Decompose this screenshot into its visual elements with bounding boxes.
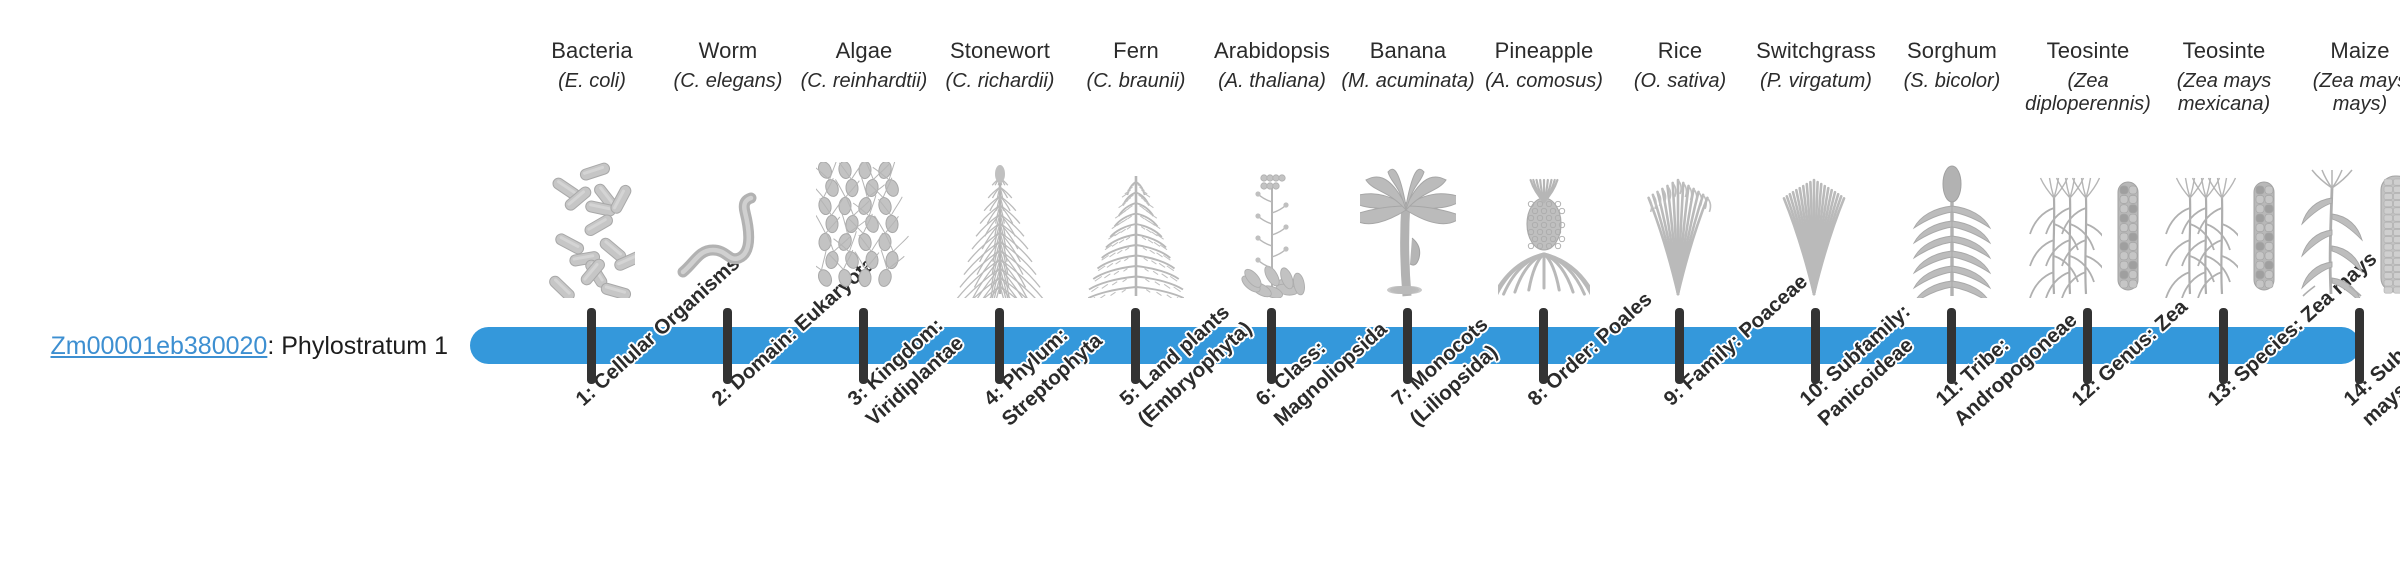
- species-header: Maize(Zea mays mays): [2283, 38, 2400, 116]
- species-common-name: Worm: [651, 38, 805, 64]
- species-common-name: Rice: [1603, 38, 1757, 64]
- species-common-name: Bacteria: [515, 38, 669, 64]
- species-column: Bacteria(E. coli)1: Cellular Organisms: [524, 0, 660, 580]
- stonewort-illustration: [932, 168, 1068, 298]
- species-common-name: Maize: [2283, 38, 2400, 64]
- banana-plant-illustration: [1340, 168, 1476, 298]
- species-common-name: Algae: [787, 38, 941, 64]
- species-header: Teosinte(Zea diploperennis): [2011, 38, 2165, 116]
- species-common-name: Arabidopsis: [1195, 38, 1349, 64]
- species-scientific-name: (C. braunii): [1059, 70, 1213, 93]
- species-scientific-name: (E. coli): [515, 70, 669, 93]
- species-column: Teosinte(Zea diploperennis)12: Genus: Ze…: [2020, 0, 2156, 580]
- species-header: Arabidopsis(A. thaliana): [1195, 38, 1349, 93]
- species-scientific-name: (C. elegans): [651, 70, 805, 93]
- species-column: Algae(C. reinhardtii)3: Kingdom: Viridip…: [796, 0, 932, 580]
- species-header: Fern(C. braunii): [1059, 38, 1213, 93]
- label-separator: :: [267, 332, 281, 360]
- species-scientific-name: (S. bicolor): [1875, 70, 2029, 93]
- species-common-name: Stonewort: [923, 38, 1077, 64]
- species-common-name: Pineapple: [1467, 38, 1621, 64]
- gene-phylostratum-text: : Phylostratum 1: [267, 332, 448, 360]
- species-header: Pineapple(A. comosus): [1467, 38, 1621, 93]
- species-column: Pineapple(A. comosus)8: Order: Poales: [1476, 0, 1612, 580]
- species-column: Sorghum(S. bicolor)11: Tribe: Andropogon…: [1884, 0, 2020, 580]
- species-common-name: Fern: [1059, 38, 1213, 64]
- species-header: Algae(C. reinhardtii): [787, 38, 941, 93]
- timeline-tick: [723, 308, 732, 384]
- species-common-name: Switchgrass: [1739, 38, 1893, 64]
- species-column: Worm(C. elegans)2: Domain: Eukaryota: [660, 0, 796, 580]
- green-algae-illustration: [796, 168, 932, 298]
- gene-id-link[interactable]: Zm00001eb380020: [50, 332, 267, 360]
- species-common-name: Sorghum: [1875, 38, 2029, 64]
- species-scientific-name: (M. acuminata): [1331, 70, 1485, 93]
- species-scientific-name: (C. richardii): [923, 70, 1077, 93]
- species-column: Teosinte(Zea mays mexicana)13: Species: …: [2156, 0, 2292, 580]
- nematode-worm-illustration: [660, 168, 796, 298]
- species-scientific-name: (C. reinhardtii): [787, 70, 941, 93]
- arabidopsis-illustration: [1204, 168, 1340, 298]
- pineapple-illustration: [1476, 168, 1612, 298]
- phylostratum-value: Phylostratum 1: [281, 332, 448, 360]
- timeline-tick: [1403, 308, 1412, 384]
- species-scientific-name: (A. comosus): [1467, 70, 1621, 93]
- species-column: Arabidopsis(A. thaliana)6: Class: Magnol…: [1204, 0, 1340, 580]
- species-scientific-name: (P. virgatum): [1739, 70, 1893, 93]
- species-column: Rice(O. sativa)9: Family: Poaceae: [1612, 0, 1748, 580]
- timeline-tick: [1947, 308, 1956, 384]
- fern-illustration: [1068, 168, 1204, 298]
- timeline-tick: [1131, 308, 1140, 384]
- timeline-tick: [2355, 308, 2364, 384]
- species-header: Sorghum(S. bicolor): [1875, 38, 2029, 93]
- timeline-tick: [2083, 308, 2092, 384]
- species-scientific-name: (O. sativa): [1603, 70, 1757, 93]
- species-common-name: Teosinte: [2147, 38, 2301, 64]
- species-scientific-name: (A. thaliana): [1195, 70, 1349, 93]
- species-header: Stonewort(C. richardii): [923, 38, 1077, 93]
- species-common-name: Teosinte: [2011, 38, 2165, 64]
- species-columns: Bacteria(E. coli)1: Cellular OrganismsWo…: [462, 0, 2362, 580]
- species-header: Banana(M. acuminata): [1331, 38, 1485, 93]
- species-common-name: Banana: [1331, 38, 1485, 64]
- timeline-tick: [1539, 308, 1548, 384]
- timeline-tick: [2219, 308, 2228, 384]
- timeline-tick: [859, 308, 868, 384]
- species-header: Rice(O. sativa): [1603, 38, 1757, 93]
- timeline-tick: [587, 308, 596, 384]
- bacteria-illustration: [524, 168, 660, 298]
- species-scientific-name: (Zea mays mays): [2283, 70, 2400, 116]
- species-column: Fern(C. braunii)5: Land plants (Embryoph…: [1068, 0, 1204, 580]
- species-scientific-name: (Zea diploperennis): [2011, 70, 2165, 116]
- timeline-tick: [1811, 308, 1820, 384]
- gene-row-label: Zm00001eb380020: Phylostratum 1: [0, 331, 448, 361]
- species-header: Teosinte(Zea mays mexicana): [2147, 38, 2301, 116]
- rice-plant-illustration: [1612, 168, 1748, 298]
- species-header: Worm(C. elegans): [651, 38, 805, 93]
- species-column: Switchgrass(P. virgatum)10: Subfamily: P…: [1748, 0, 1884, 580]
- species-column: Stonewort(C. richardii)4: Phylum: Strept…: [932, 0, 1068, 580]
- species-header: Switchgrass(P. virgatum): [1739, 38, 1893, 93]
- teosinte-plant-and-ear-illustration: [2156, 168, 2292, 298]
- teosinte-plant-and-ear-illustration: [2020, 168, 2156, 298]
- sorghum-plant-illustration: [1884, 168, 2020, 298]
- phylostratum-timeline-figure: Zm00001eb380020: Phylostratum 1 Bacteria…: [0, 0, 2400, 580]
- species-scientific-name: (Zea mays mexicana): [2147, 70, 2301, 116]
- timeline-tick: [1675, 308, 1684, 384]
- switchgrass-illustration: [1748, 168, 1884, 298]
- timeline-tick: [995, 308, 1004, 384]
- species-column: Maize(Zea mays mays)14: Subspecies: Zea …: [2292, 0, 2400, 580]
- timeline-tick: [1267, 308, 1276, 384]
- species-header: Bacteria(E. coli): [515, 38, 669, 93]
- species-column: Banana(M. acuminata)7: Monocots (Liliops…: [1340, 0, 1476, 580]
- maize-plant-and-cob-illustration: [2292, 168, 2400, 298]
